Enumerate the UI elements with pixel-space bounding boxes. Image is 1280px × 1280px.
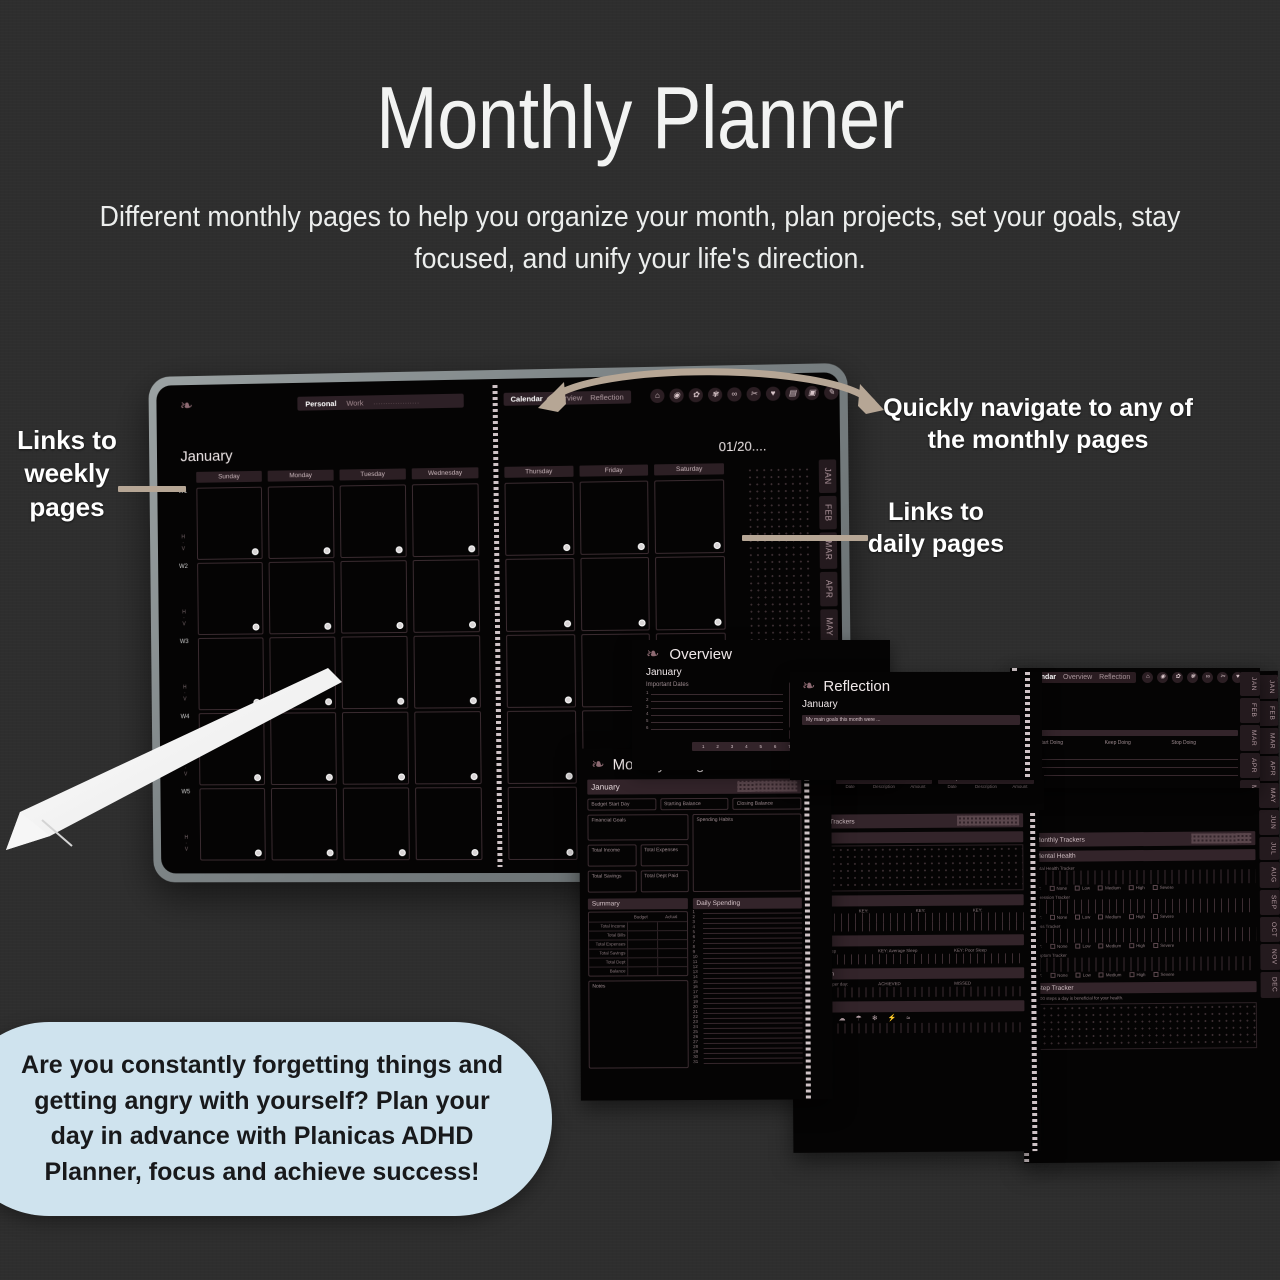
reflection-prompt[interactable]: My main goals this month were ... bbox=[802, 715, 1020, 725]
notes-box[interactable]: Notes bbox=[588, 980, 688, 1069]
checkbox-icon[interactable] bbox=[1075, 886, 1080, 891]
calendar-day-cell[interactable] bbox=[579, 481, 649, 555]
date-number[interactable]: 3 bbox=[731, 744, 734, 749]
column-stop-doing: Stop Doing bbox=[1171, 740, 1238, 746]
storm-icon[interactable]: ⚡ bbox=[888, 1014, 897, 1022]
day-link-icon[interactable] bbox=[253, 624, 260, 631]
month-tab-apr[interactable]: APR bbox=[820, 572, 838, 607]
day-link-icon[interactable] bbox=[253, 699, 260, 706]
week-label-group[interactable]: W3H·V bbox=[176, 638, 192, 710]
day-link-icon[interactable] bbox=[399, 849, 406, 856]
tab-reflection[interactable]: Reflection bbox=[1099, 674, 1130, 681]
transportation-col-description: Description bbox=[966, 784, 1006, 789]
write-line[interactable] bbox=[651, 723, 782, 730]
calendar-day-cell[interactable] bbox=[508, 787, 578, 860]
checkbox-icon[interactable] bbox=[1153, 914, 1158, 919]
checkbox-icon[interactable] bbox=[1129, 914, 1134, 919]
key-level-label: None bbox=[1056, 886, 1067, 891]
checkbox-icon[interactable] bbox=[1153, 885, 1158, 890]
cloud-icon[interactable]: ☁ bbox=[839, 1014, 846, 1022]
checkbox-icon[interactable] bbox=[1129, 885, 1134, 890]
date-number[interactable]: 2 bbox=[716, 744, 719, 749]
key-level[interactable]: Severe bbox=[1153, 943, 1174, 948]
write-line[interactable] bbox=[651, 709, 782, 716]
key-level-label: High bbox=[1136, 914, 1145, 919]
tab-work[interactable]: Work bbox=[346, 398, 363, 407]
day-link-icon[interactable] bbox=[326, 774, 333, 781]
monthly-trackers-header: Monthly Trackers bbox=[801, 813, 1023, 829]
financial-goals-box[interactable]: Financial Goals bbox=[587, 814, 688, 841]
summary-budget-cell[interactable] bbox=[627, 940, 657, 948]
floral-sprig-icon: ❧ bbox=[646, 647, 659, 663]
day-link-icon[interactable] bbox=[327, 849, 334, 856]
closing-balance-field[interactable]: Closing Balance bbox=[733, 797, 802, 809]
week-label-group[interactable]: W5H·V bbox=[178, 788, 194, 860]
calendar-day-cell[interactable] bbox=[580, 557, 650, 631]
weekday-header-left: Sunday Monday Tuesday Wednesday bbox=[196, 467, 478, 483]
day-link-icon[interactable] bbox=[397, 698, 404, 705]
annotation-links-to-weekly-pages: Links to weekly pages bbox=[2, 424, 132, 524]
month-tab-feb[interactable]: FEB bbox=[819, 496, 837, 530]
summary-budget-cell[interactable] bbox=[627, 931, 657, 939]
calendar-week-row: W5H·V bbox=[178, 787, 483, 863]
daily-spending-rows: 1234567891011121314151617181920212223242… bbox=[692, 908, 802, 1064]
tracker-key-row: KEY:NoneLowMediumHighSevere bbox=[1032, 884, 1256, 891]
calendar-day-cell[interactable] bbox=[341, 636, 408, 709]
important-date-line[interactable]: 1 bbox=[646, 688, 783, 695]
summary-row-label: Total Expenses bbox=[589, 940, 627, 948]
table-row[interactable] bbox=[1038, 752, 1238, 760]
day-link-icon[interactable] bbox=[324, 623, 331, 630]
write-line[interactable] bbox=[651, 716, 782, 723]
wellness-section-body[interactable]: KEY: Good SleepKEY: Average SleepKEY: Po… bbox=[802, 947, 1024, 965]
leader-line-right bbox=[742, 535, 868, 541]
week-label-group[interactable]: W2H·V bbox=[176, 563, 192, 635]
calendar-day-cell[interactable] bbox=[413, 635, 480, 708]
calendar-day-cell[interactable] bbox=[269, 637, 336, 710]
summary-row[interactable]: Balance bbox=[589, 966, 687, 976]
calendar-day-cell[interactable] bbox=[504, 482, 574, 556]
day-link-icon[interactable] bbox=[396, 622, 403, 629]
transportation-col-amount: Amount bbox=[1006, 784, 1034, 789]
week-label[interactable]: W5 bbox=[181, 789, 190, 795]
summary-col-actual: Actual bbox=[656, 912, 687, 921]
total-income-box[interactable]: Total Income bbox=[588, 844, 637, 866]
day-link-icon[interactable] bbox=[564, 696, 571, 703]
key-level[interactable]: Low bbox=[1075, 944, 1090, 949]
category-tabs[interactable]: Personal Work ................... bbox=[297, 394, 463, 411]
tracker-key-row: KEY:NoneLowMediumHighSevere bbox=[1032, 971, 1256, 978]
callout-bubble: Are you constantly forgetting things and… bbox=[0, 1022, 552, 1216]
month-tab-feb[interactable]: FEB bbox=[1240, 698, 1260, 722]
month-tab-apr[interactable]: APR bbox=[1259, 756, 1279, 781]
important-date-line[interactable]: 3 bbox=[646, 702, 783, 709]
month-tab-sep[interactable]: SEP bbox=[1260, 890, 1280, 915]
write-line[interactable] bbox=[651, 695, 782, 702]
tracker-day-grid[interactable] bbox=[1032, 927, 1256, 943]
important-date-line[interactable]: 2 bbox=[646, 695, 783, 702]
budget-start-day-field[interactable]: Budget Start Day bbox=[587, 798, 656, 810]
checkbox-icon[interactable] bbox=[1129, 943, 1134, 948]
month-tab-nov[interactable]: NOV bbox=[1260, 944, 1280, 970]
tracker-key-row: KEY:NoneLowMediumHighSevere bbox=[1032, 913, 1256, 920]
calendar-day-cell[interactable] bbox=[655, 556, 725, 630]
weekday-header-right: Thursday Friday Saturday bbox=[504, 463, 724, 478]
wellness-section-list: HabitsMoodKEY:KEY:KEY:KEY:AMPMSleepKEY: … bbox=[801, 831, 1024, 1034]
checkbox-icon[interactable] bbox=[1050, 973, 1055, 978]
month-tab-apr[interactable]: APR bbox=[1240, 753, 1260, 778]
month-tab-jan[interactable]: JAN bbox=[1240, 672, 1260, 696]
date-number[interactable]: 6 bbox=[774, 744, 777, 749]
key-level[interactable]: High bbox=[1129, 943, 1145, 948]
spending-habits-box[interactable]: Spending Habits bbox=[692, 813, 801, 892]
summary-row[interactable]: Total Income bbox=[589, 921, 687, 931]
hydration-label: MISSED bbox=[954, 980, 1024, 985]
tab-overview[interactable]: Overview bbox=[1063, 674, 1092, 681]
day-link-icon[interactable] bbox=[639, 619, 646, 626]
calendar-week-row: W1H·V bbox=[175, 483, 479, 563]
key-level[interactable]: Low bbox=[1076, 973, 1091, 978]
annotation-links-to-daily-pages: Links to daily pages bbox=[866, 496, 1006, 560]
key-level[interactable]: Medium bbox=[1098, 885, 1121, 890]
month-tab-may[interactable]: MAY bbox=[1240, 780, 1260, 788]
starting-balance-field[interactable]: Starting Balance bbox=[660, 798, 729, 810]
reflection-page[interactable]: ❧ Reflection January My main goals this … bbox=[790, 672, 1042, 780]
sleep-key: KEY: Poor Sleep bbox=[954, 947, 1024, 952]
key-level[interactable]: None bbox=[1050, 915, 1068, 920]
weekday-friday: Friday bbox=[579, 464, 648, 476]
summary-row-label: Total Income bbox=[589, 922, 627, 930]
checkbox-icon[interactable] bbox=[1050, 944, 1055, 949]
calendar-day-cell[interactable] bbox=[507, 710, 577, 784]
checkbox-icon[interactable] bbox=[1075, 944, 1080, 949]
calendar-day-cell[interactable] bbox=[196, 487, 262, 560]
key-level-label: High bbox=[1136, 972, 1145, 977]
write-line[interactable] bbox=[651, 688, 782, 695]
tracker-day-grid[interactable] bbox=[1032, 869, 1256, 885]
page-spine bbox=[804, 747, 811, 1099]
daily-spending-title: Daily Spending bbox=[692, 897, 802, 909]
key-level[interactable]: None bbox=[1050, 973, 1068, 978]
calendar-date-code: 01/20.... bbox=[719, 438, 767, 454]
checkbox-icon[interactable] bbox=[1099, 972, 1104, 977]
day-link-icon[interactable] bbox=[468, 545, 475, 552]
day-link-icon[interactable] bbox=[714, 542, 721, 549]
line-number: 2 bbox=[646, 697, 648, 702]
summary-col-budget: Budget bbox=[626, 912, 657, 921]
date-number[interactable]: 5 bbox=[760, 744, 763, 749]
summary-rows: Total IncomeTotal BillsTotal ExpensesTot… bbox=[589, 921, 687, 976]
checkbox-icon[interactable] bbox=[1049, 886, 1054, 891]
day-link-icon[interactable] bbox=[469, 621, 476, 628]
day-link-icon[interactable] bbox=[564, 620, 571, 627]
weekday-tuesday: Tuesday bbox=[339, 468, 405, 480]
checkbox-icon[interactable] bbox=[1099, 943, 1104, 948]
month-tab-jan[interactable]: JAN bbox=[819, 459, 837, 493]
checkbox-icon[interactable] bbox=[1129, 972, 1134, 977]
mood-day-grid[interactable] bbox=[813, 921, 1024, 931]
summary-budget-cell[interactable] bbox=[627, 922, 657, 930]
key-level-label: Medium bbox=[1105, 914, 1121, 919]
hydration-label: ACHIEVED bbox=[878, 981, 948, 986]
key-level[interactable]: Medium bbox=[1099, 943, 1122, 948]
checkbox-icon[interactable] bbox=[1075, 915, 1080, 920]
key-level[interactable]: Severe bbox=[1153, 972, 1174, 977]
calendar-day-cell[interactable] bbox=[197, 562, 263, 635]
hydration-day-grid[interactable] bbox=[802, 986, 1024, 998]
home-icon[interactable]: ⌂ bbox=[1142, 672, 1153, 683]
decorative-check-grid bbox=[737, 781, 797, 792]
key-level[interactable]: Severe bbox=[1153, 914, 1174, 919]
calendar-day-cell[interactable] bbox=[269, 561, 336, 634]
important-date-line[interactable]: 4 bbox=[646, 709, 783, 716]
hv-markers: H·V bbox=[181, 534, 185, 552]
key-level[interactable]: None bbox=[1050, 944, 1068, 949]
summary-row[interactable]: Total Bills bbox=[589, 930, 687, 940]
month-tab-jul[interactable]: JUL bbox=[1259, 837, 1279, 861]
wellness-section-body[interactable] bbox=[801, 844, 1023, 892]
checkbox-icon[interactable] bbox=[1098, 914, 1103, 919]
floral-sprig-icon: ❧ bbox=[802, 679, 815, 695]
month-tab-jan[interactable]: JAN bbox=[1258, 675, 1278, 699]
daily-spending-row[interactable]: 31 bbox=[693, 1058, 802, 1064]
total-expenses-box[interactable]: Total Expenses bbox=[640, 844, 689, 866]
summary-actual-cell[interactable] bbox=[657, 940, 687, 948]
month-tab-oct[interactable]: OCT bbox=[1260, 917, 1280, 943]
hv-markers: H·V bbox=[184, 760, 188, 778]
calendar-day-cell[interactable] bbox=[198, 637, 264, 710]
calendar-day-cell[interactable] bbox=[343, 787, 410, 860]
important-date-line[interactable]: 6 bbox=[646, 723, 783, 730]
page-title: Monthly Planner bbox=[102, 74, 1177, 162]
rain-icon[interactable]: ☂ bbox=[856, 1014, 862, 1022]
key-level-label: Low bbox=[1082, 886, 1090, 891]
total-savings-box[interactable]: Total Savings bbox=[588, 870, 637, 892]
week-label-group[interactable]: W1H·V bbox=[175, 488, 191, 560]
calendar-week-row: W4H·V bbox=[177, 711, 482, 788]
calendar-day-cell[interactable] bbox=[270, 712, 337, 785]
summary-actual-cell[interactable] bbox=[657, 949, 687, 957]
checkbox-icon[interactable] bbox=[1153, 943, 1158, 948]
month-tab-rail[interactable]: JAN FEB MAR APR MAY JUN JUL AUG SEP OCT … bbox=[1258, 671, 1280, 998]
calendar-day-cell[interactable] bbox=[340, 484, 407, 558]
summary-budget-cell[interactable] bbox=[628, 958, 658, 966]
table-row[interactable] bbox=[1038, 760, 1238, 768]
link-icon[interactable]: ∞ bbox=[1202, 672, 1213, 683]
day-link-icon[interactable] bbox=[470, 697, 477, 704]
hv-marker: V bbox=[182, 546, 185, 552]
weekday-thursday: Thursday bbox=[504, 466, 573, 478]
summary-row[interactable]: Total Dept bbox=[589, 957, 687, 967]
weather-day-grid[interactable] bbox=[803, 1022, 1025, 1034]
calendar-day-cell[interactable] bbox=[199, 788, 265, 860]
key-level-label: Medium bbox=[1106, 943, 1122, 948]
income-col-description: Description bbox=[864, 784, 904, 789]
month-tab-mar[interactable]: MAR bbox=[1240, 725, 1260, 751]
hv-marker: V bbox=[182, 621, 185, 627]
page-spine bbox=[492, 385, 502, 867]
write-line[interactable] bbox=[651, 702, 782, 709]
day-link-icon[interactable] bbox=[565, 773, 572, 780]
key-level-label: Low bbox=[1082, 944, 1090, 949]
tracker-key-row: KEY:NoneLowMediumHighSevere bbox=[1032, 942, 1256, 949]
summary-budget-cell[interactable] bbox=[627, 949, 657, 957]
day-link-icon[interactable] bbox=[471, 773, 478, 780]
day-link-icon[interactable] bbox=[254, 774, 261, 781]
step-tracker-title: Step Tracker bbox=[1033, 981, 1257, 994]
week-label-group[interactable]: W4H·V bbox=[177, 713, 193, 785]
weekday-saturday: Saturday bbox=[654, 463, 724, 475]
summary-row[interactable]: Total Savings bbox=[589, 948, 687, 958]
hv-marker: V bbox=[184, 772, 187, 778]
month-tab-dec[interactable]: DEC bbox=[1260, 972, 1280, 998]
annotation-quick-navigate: Quickly navigate to any of the monthly p… bbox=[878, 392, 1198, 456]
key-level[interactable]: Medium bbox=[1099, 972, 1122, 977]
table-row[interactable] bbox=[1038, 768, 1238, 776]
step-tracker-note: 10000 steps a day is beneficial for your… bbox=[1033, 994, 1257, 1001]
calendar-month: January bbox=[180, 448, 232, 466]
key-level-label: Severe bbox=[1160, 972, 1174, 977]
summary-budget-cell[interactable] bbox=[628, 967, 658, 975]
monthly-budget-page[interactable]: ❧ Monthly Budget January Budget Start Da… bbox=[579, 747, 833, 1100]
decorative-check-grid bbox=[957, 815, 1019, 825]
calendar-week-row: W3H·V bbox=[176, 635, 480, 713]
tracker-day-grid[interactable] bbox=[1032, 898, 1256, 914]
month-tab-may[interactable]: MAY bbox=[1259, 783, 1279, 809]
calendar-day-cell[interactable] bbox=[271, 788, 338, 861]
sleep-day-grid[interactable] bbox=[802, 953, 1024, 965]
date-number[interactable]: 4 bbox=[745, 744, 748, 749]
summary-actual-cell[interactable] bbox=[657, 967, 687, 975]
tracker-list: Mental Health TrackerKEY:NoneLowMediumHi… bbox=[1032, 864, 1257, 978]
summary-row-label: Total Dept bbox=[589, 958, 627, 966]
write-line[interactable] bbox=[703, 1058, 802, 1064]
wellness-section-habits: Habits bbox=[801, 831, 1023, 844]
day-link-icon[interactable] bbox=[324, 547, 331, 554]
wellness-section-sleep: Sleep bbox=[802, 934, 1024, 947]
section-divider bbox=[1022, 730, 1238, 736]
line-number: 5 bbox=[646, 718, 648, 723]
page-subtitle: Different monthly pages to help you orga… bbox=[79, 196, 1201, 280]
page-spine bbox=[1025, 672, 1030, 780]
calendar-day-cell[interactable] bbox=[506, 634, 576, 708]
calendar-day-cell[interactable] bbox=[412, 483, 479, 557]
key-level[interactable]: High bbox=[1129, 885, 1145, 890]
wellness-section-body[interactable]: KEY:☀☁☂❄⚡≈ bbox=[802, 1013, 1024, 1034]
calendar-day-cell[interactable] bbox=[413, 559, 480, 633]
summary-actual-cell[interactable] bbox=[657, 958, 687, 966]
hv-marker: V bbox=[183, 696, 186, 702]
finance-icon[interactable]: ✂ bbox=[1217, 672, 1228, 683]
month-tab-aug[interactable]: AUG bbox=[1260, 862, 1280, 888]
snow-icon[interactable]: ❄ bbox=[872, 1014, 878, 1022]
important-date-line[interactable]: 5 bbox=[646, 716, 783, 723]
month-tab-mar[interactable]: MAR bbox=[1258, 727, 1278, 753]
calendar-grid-left[interactable]: W1H·VW2H·VW3H·VW4H·VW5H·V bbox=[175, 483, 483, 863]
income-col-date: Date bbox=[836, 784, 864, 789]
hv-markers: H·V bbox=[183, 685, 187, 703]
checkbox-icon[interactable] bbox=[1076, 973, 1081, 978]
key-level-label: None bbox=[1057, 944, 1068, 949]
reflection-title: Reflection bbox=[823, 678, 890, 695]
key-level-label: Severe bbox=[1160, 943, 1174, 948]
calendar-day-cell[interactable] bbox=[268, 486, 335, 559]
wellness-section-body[interactable]: TARGET glass per day:ACHIEVEDMISSED bbox=[802, 980, 1024, 998]
line-number: 1 bbox=[646, 690, 648, 695]
week-label[interactable]: W3 bbox=[180, 639, 189, 645]
day-link-icon[interactable] bbox=[563, 544, 570, 551]
day-link-icon[interactable] bbox=[325, 698, 332, 705]
key-level[interactable]: None bbox=[1049, 886, 1067, 891]
key-level[interactable]: Low bbox=[1075, 886, 1090, 891]
checkbox-icon[interactable] bbox=[1050, 915, 1055, 920]
calendar-day-cell[interactable] bbox=[342, 712, 409, 785]
week-label[interactable]: W4 bbox=[181, 714, 190, 720]
calendar-day-cell[interactable] bbox=[340, 560, 407, 633]
wellness-section-mood: Mood bbox=[802, 894, 1024, 907]
key-level[interactable]: Severe bbox=[1153, 885, 1174, 890]
goals-icon[interactable]: ✾ bbox=[1187, 672, 1198, 683]
wind-icon[interactable]: ≈ bbox=[906, 1015, 910, 1022]
column-keep-doing: Keep Doing bbox=[1105, 740, 1172, 746]
day-link-icon[interactable] bbox=[566, 849, 573, 856]
key-level[interactable]: High bbox=[1129, 972, 1145, 977]
month-tab-rail[interactable]: JAN FEB MAR APR MAY bbox=[1240, 668, 1260, 788]
date-number[interactable]: 1 bbox=[702, 744, 705, 749]
wellness-section-body[interactable]: KEY:KEY:KEY:KEY:AMPM bbox=[802, 907, 1024, 932]
week-label[interactable]: W2 bbox=[179, 564, 188, 570]
gear-icon[interactable]: ✿ bbox=[1172, 672, 1183, 683]
total-dept-paid-box[interactable]: Total Dept Paid bbox=[640, 870, 689, 892]
calendar-day-cell[interactable] bbox=[655, 479, 725, 554]
tab-personal[interactable]: Personal bbox=[305, 399, 336, 409]
tracker-day-grid[interactable] bbox=[1032, 956, 1256, 972]
day-link-icon[interactable] bbox=[255, 850, 262, 857]
day-link-icon[interactable] bbox=[638, 543, 645, 550]
day-link-icon[interactable] bbox=[398, 773, 405, 780]
calendar-day-cell[interactable] bbox=[415, 787, 482, 860]
summary-row[interactable]: Total Expenses bbox=[589, 939, 687, 949]
checkbox-icon[interactable] bbox=[1153, 972, 1158, 977]
key-level[interactable]: Medium bbox=[1098, 914, 1121, 919]
calendar-week-row bbox=[504, 479, 724, 558]
key-level[interactable]: High bbox=[1129, 914, 1145, 919]
category-placeholder[interactable]: ................... bbox=[373, 398, 419, 406]
month-tab-jun[interactable]: JUN bbox=[1259, 810, 1279, 835]
budget-month: January bbox=[591, 782, 620, 791]
calendar-day-cell[interactable] bbox=[505, 558, 575, 632]
sleep-key: KEY: Average Sleep bbox=[878, 948, 948, 953]
wellness-section-weather: Weather bbox=[802, 1000, 1024, 1013]
floral-sprig-icon: ❧ bbox=[591, 757, 604, 773]
key-level-label: High bbox=[1136, 885, 1145, 890]
summary-actual-cell[interactable] bbox=[657, 931, 687, 939]
day-link-icon[interactable] bbox=[714, 619, 721, 626]
calendar-day-cell[interactable] bbox=[199, 713, 265, 786]
reflection-table-page[interactable]: Calendar Overview Reflection ⌂ ◉ ✿ ✾ ∞ ✂… bbox=[1010, 668, 1260, 788]
key-level[interactable]: Low bbox=[1075, 915, 1090, 920]
hv-markers: H·V bbox=[182, 609, 186, 627]
key-level-label: Low bbox=[1082, 915, 1090, 920]
checkbox-icon[interactable] bbox=[1098, 885, 1103, 890]
day-link-icon[interactable] bbox=[396, 546, 403, 553]
day-link-icon[interactable] bbox=[471, 849, 478, 856]
day-link-icon[interactable] bbox=[252, 548, 259, 555]
idea-icon[interactable]: ◉ bbox=[1157, 672, 1168, 683]
calendar-day-cell[interactable] bbox=[414, 711, 481, 784]
summary-actual-cell[interactable] bbox=[657, 922, 687, 930]
month-tab-feb[interactable]: FEB bbox=[1258, 701, 1278, 726]
